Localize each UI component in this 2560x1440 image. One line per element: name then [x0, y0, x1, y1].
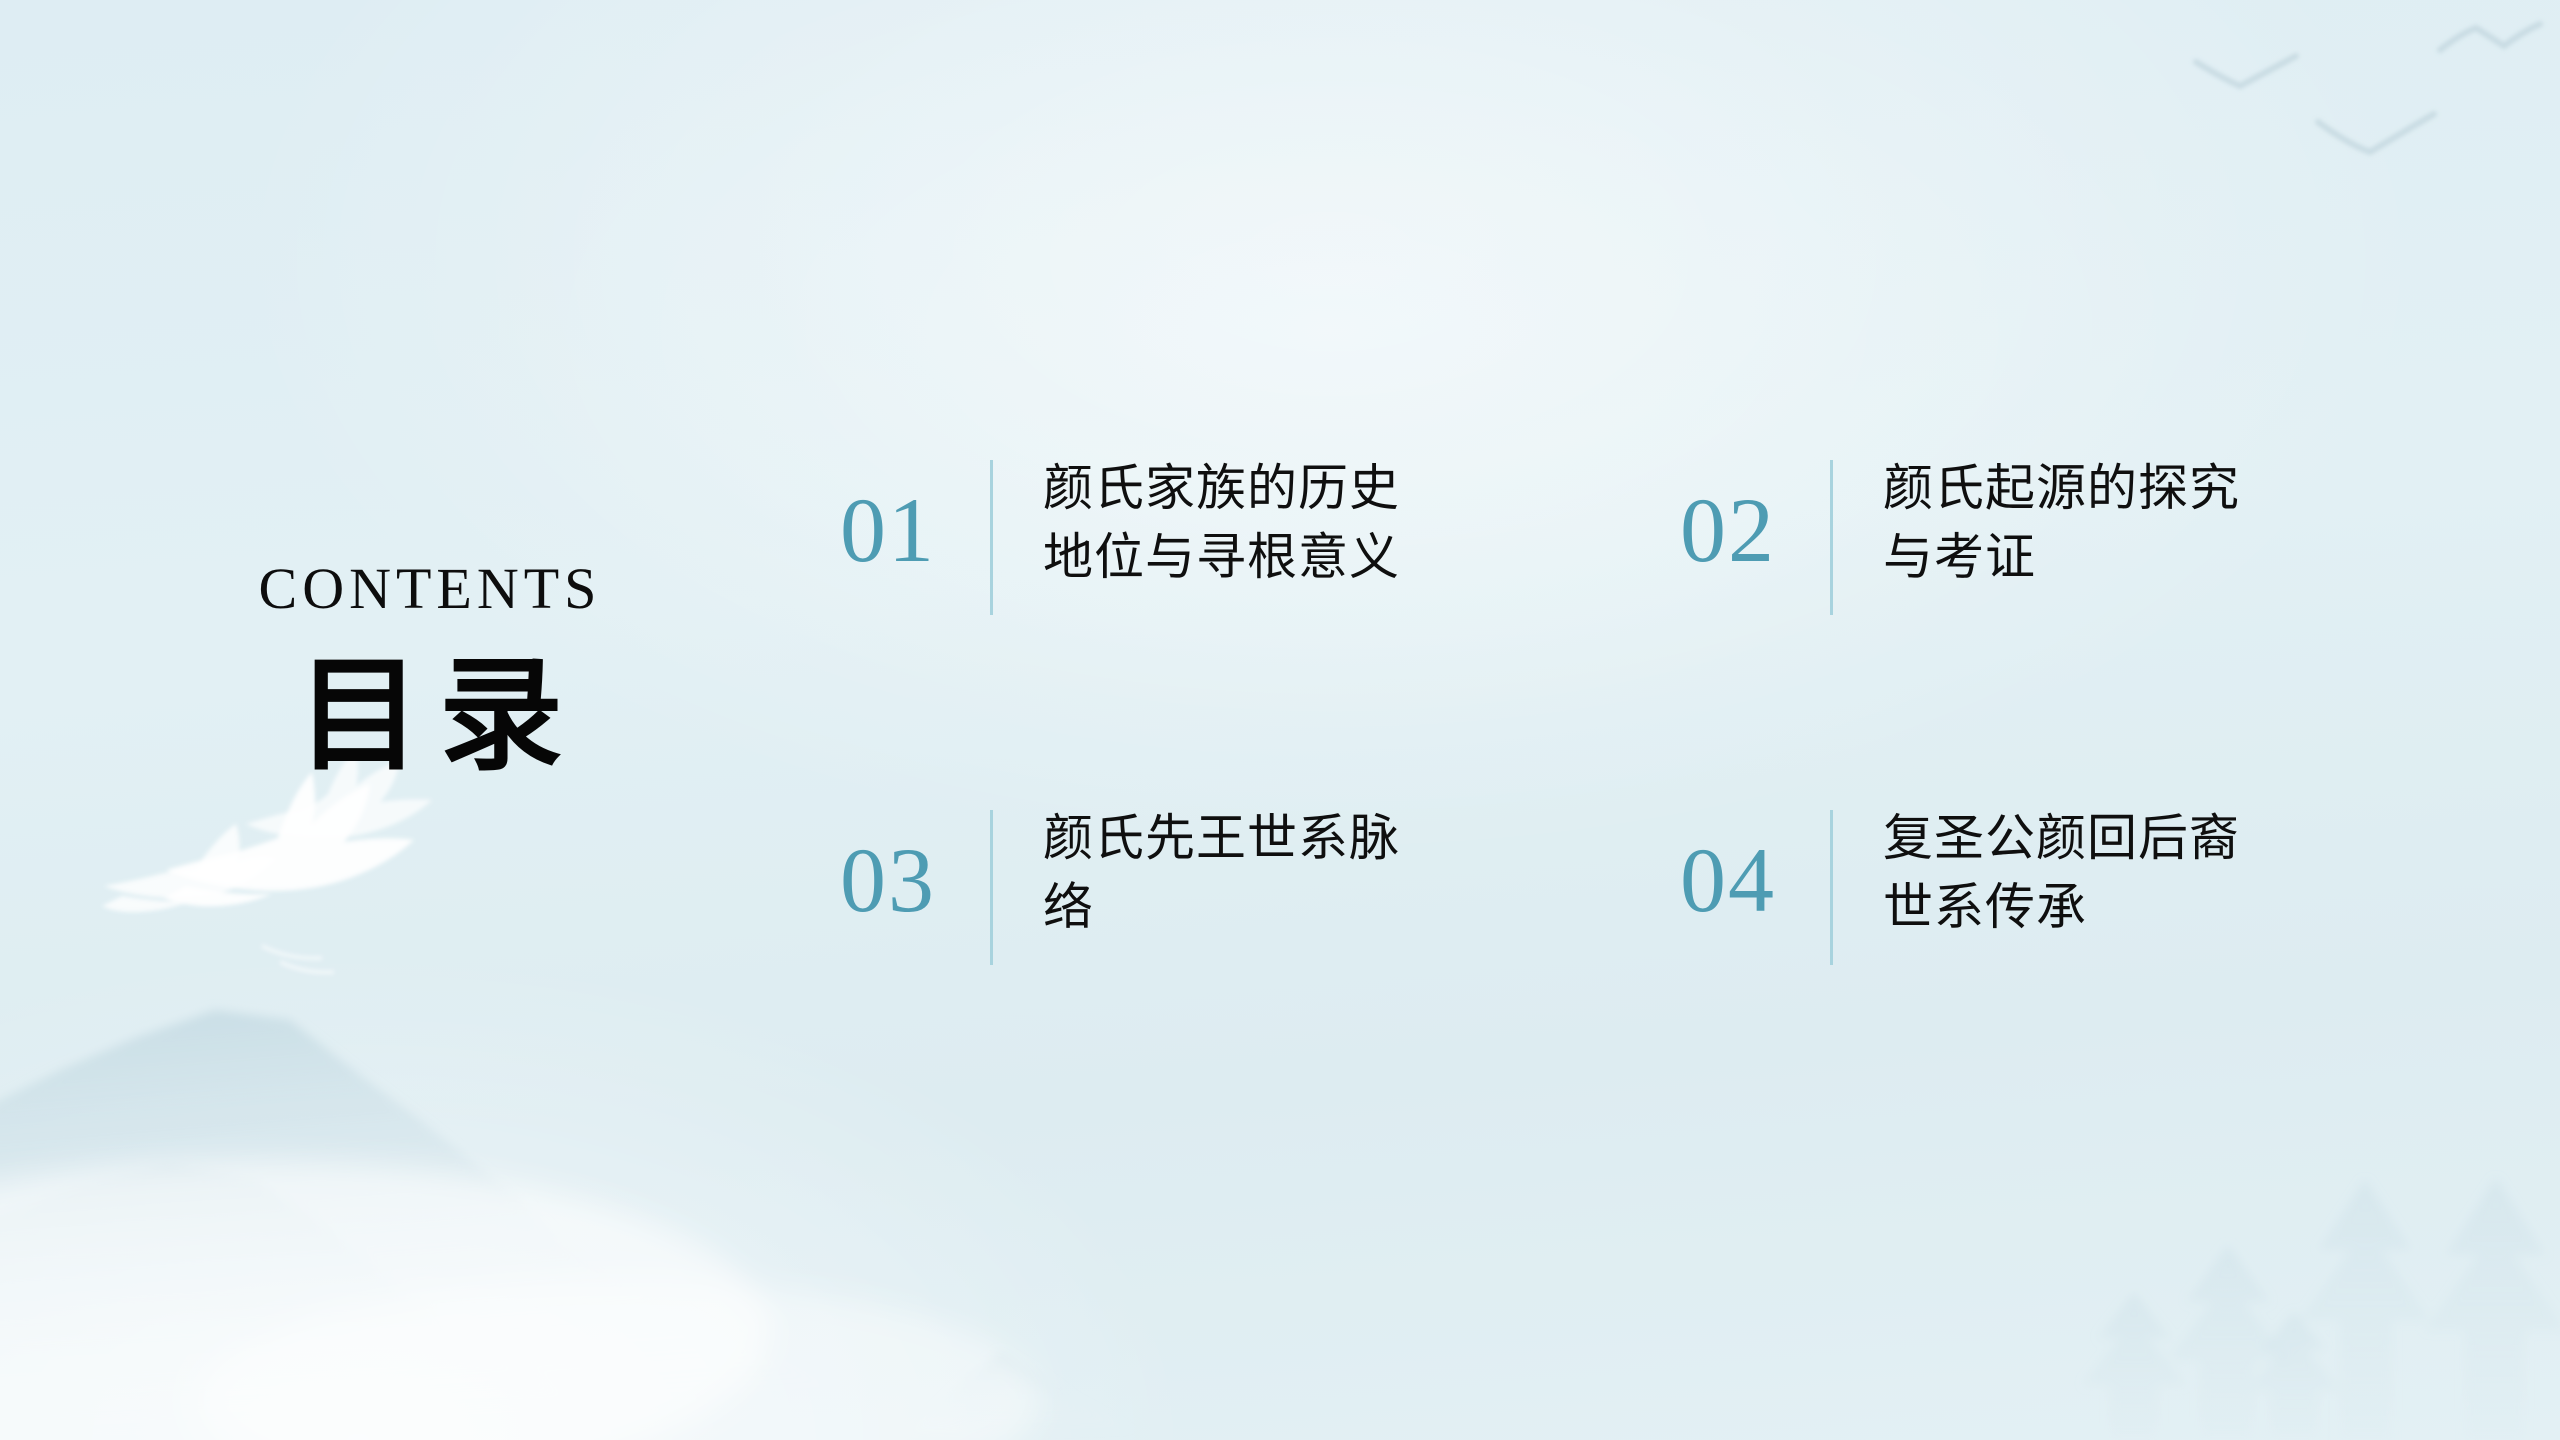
agenda-item-number: 03 [840, 790, 990, 926]
agenda-item-number: 02 [1680, 440, 1830, 576]
contents-heading: CONTENTS 目录 [180, 560, 680, 778]
contents-english-title: CONTENTS [180, 560, 680, 618]
agenda-item-01[interactable]: 01 颜氏家族的历史地位与寻根意义 [840, 440, 1680, 790]
mist-veil [0, 1160, 1040, 1440]
contents-chinese-title: 目录 [180, 654, 680, 778]
pine-trees [2082, 1178, 2560, 1440]
agenda-item-title: 颜氏先王世系脉络 [993, 790, 1403, 942]
agenda-item-02[interactable]: 02 颜氏起源的探究与考证 [1680, 440, 2480, 790]
contents-slide: CONTENTS 目录 01 颜氏家族的历史地位与寻根意义 02 颜氏起源的探究… [0, 0, 2560, 1440]
agenda-item-number: 01 [840, 440, 990, 576]
agenda-items-grid: 01 颜氏家族的历史地位与寻根意义 02 颜氏起源的探究与考证 03 颜氏先王世… [840, 440, 2480, 1140]
agenda-item-title: 颜氏起源的探究与考证 [1833, 440, 2253, 592]
agenda-item-title: 复圣公颜回后裔世系传承 [1833, 790, 2253, 942]
agenda-item-number: 04 [1680, 790, 1830, 926]
agenda-item-03[interactable]: 03 颜氏先王世系脉络 [840, 790, 1680, 1140]
agenda-item-title: 颜氏家族的历史地位与寻根意义 [993, 440, 1403, 592]
agenda-item-04[interactable]: 04 复圣公颜回后裔世系传承 [1680, 790, 2480, 1140]
